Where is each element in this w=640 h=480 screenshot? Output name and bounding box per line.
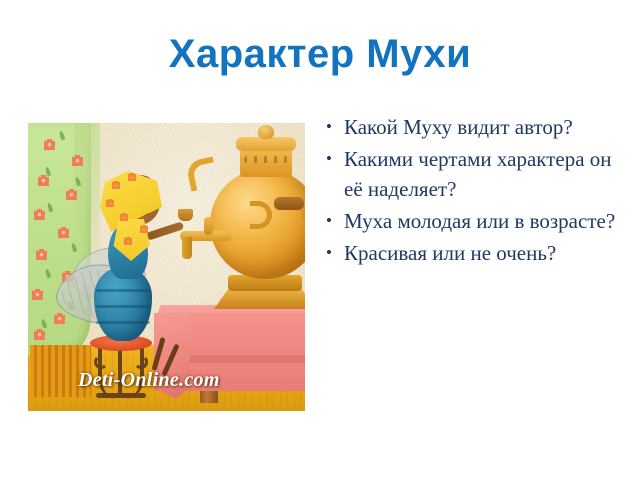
scarf-flower-icon	[120, 213, 128, 221]
samovar-tap-handle	[204, 217, 213, 235]
page-title: Характер Мухи	[0, 30, 640, 78]
scarf-flower-icon	[128, 173, 136, 181]
samovar-knob	[258, 125, 274, 139]
bullet-marker-icon: •	[326, 238, 344, 268]
curtain-flower-icon	[34, 209, 45, 220]
illustration-image: Deti-Online.com	[28, 123, 305, 411]
stool-scroll-icon	[94, 355, 108, 369]
scarf-flower-icon	[140, 225, 148, 233]
stool-foot	[96, 393, 146, 398]
bullet-marker-icon: •	[326, 112, 344, 142]
samovar-foot	[214, 289, 305, 309]
bullet-marker-icon: •	[326, 206, 344, 236]
curtain-flower-icon	[32, 289, 43, 300]
curtain-flower-icon	[54, 313, 65, 324]
list-item-text: Какими чертами характера он её наделяет?	[344, 144, 618, 204]
bullet-list: • Какой Муху видит автор? • Какими черта…	[326, 112, 618, 270]
tea-cup	[178, 209, 193, 221]
slide: Характер Мухи	[0, 0, 640, 480]
list-item-text: Муха молодая или в возрасте?	[344, 206, 618, 236]
bullet-marker-icon: •	[326, 144, 344, 174]
list-item-text: Красивая или не очень?	[344, 238, 618, 268]
curtain-flower-icon	[66, 189, 77, 200]
samovar-tap-spout	[182, 237, 192, 259]
curtain-flower-icon	[34, 329, 45, 340]
fly-abdomen-stripe	[96, 305, 150, 308]
curtain-flower-icon	[38, 175, 49, 186]
scarf-flower-icon	[106, 199, 114, 207]
scarf-flower-icon	[112, 181, 120, 189]
curtain-flower-icon	[72, 155, 83, 166]
samovar-lid	[236, 137, 296, 151]
watermark: Deti-Online.com	[78, 369, 268, 391]
fly-abdomen-stripe	[96, 321, 150, 324]
curtain-flower-icon	[58, 227, 69, 238]
samovar-neck	[240, 147, 292, 177]
list-item: • Какой Муху видит автор?	[326, 112, 618, 142]
list-item: • Красивая или не очень?	[326, 238, 618, 268]
curtain-flower-icon	[36, 249, 47, 260]
curtain-flower-icon	[44, 139, 55, 150]
list-item: • Муха молодая или в возрасте?	[326, 206, 618, 236]
scarf-flower-icon	[124, 237, 132, 245]
stool-scroll-icon	[134, 355, 148, 369]
list-item: • Какими чертами характера он её наделяе…	[326, 144, 618, 204]
list-item-text: Какой Муху видит автор?	[344, 112, 618, 142]
fly-abdomen-stripe	[96, 289, 150, 292]
samovar-grip	[274, 197, 304, 210]
